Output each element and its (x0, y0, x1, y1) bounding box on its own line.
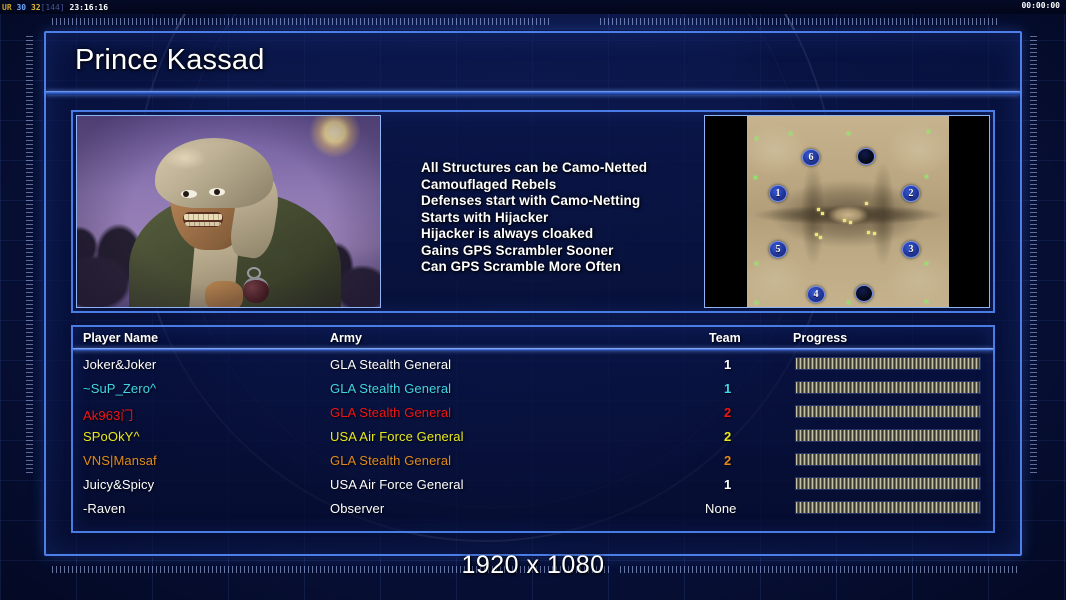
progress-bar-fill (796, 382, 980, 393)
ruler-right (1030, 36, 1037, 476)
ability-line: All Structures can be Camo-Netted (421, 160, 751, 177)
map-start-position[interactable]: 5 (769, 241, 787, 258)
map-start-position[interactable]: 3 (902, 241, 920, 258)
map-start-position[interactable]: 6 (802, 149, 820, 166)
progress-bar-fill (796, 454, 980, 465)
map-start-position[interactable] (857, 148, 875, 165)
player-name-cell: Joker&Joker (83, 357, 156, 372)
progress-bar (795, 429, 981, 442)
column-header-player-name: Player Name (83, 331, 158, 345)
ability-line: Hijacker is always cloaked (421, 226, 751, 243)
army-cell: GLA Stealth General (330, 357, 451, 372)
map-resource-dot (927, 130, 930, 133)
fps-bracket: [144] (41, 3, 65, 12)
column-header-army: Army (330, 331, 362, 345)
map-resource-dot (755, 301, 758, 304)
team-cell: 1 (724, 477, 731, 492)
map-start-position[interactable]: 2 (902, 185, 920, 202)
player-name-cell: SPoOkY^ (83, 429, 140, 444)
ability-line: Gains GPS Scrambler Sooner (421, 243, 751, 260)
ability-list: All Structures can be Camo-NettedCamoufl… (421, 160, 751, 276)
table-row[interactable]: Ak963门GLA Stealth General2 (73, 401, 993, 425)
fps-value-secondary: 32 (31, 3, 41, 12)
ruler-top-right (600, 18, 1000, 25)
player-name-cell: VNS|Mansaf (83, 453, 157, 468)
team-cell: 2 (724, 405, 731, 420)
map-start-position[interactable] (855, 285, 873, 302)
army-cell: Observer (330, 501, 384, 516)
title-divider (46, 91, 1020, 95)
system-clock: 23:16:16 (70, 3, 109, 12)
column-header-team: Team (709, 331, 741, 345)
progress-bar (795, 381, 981, 394)
map-resource-dot (755, 262, 758, 265)
resolution-label: 1920 x 1080 (0, 551, 1066, 580)
column-header-progress: Progress (793, 331, 847, 345)
player-name-cell: Juicy&Spicy (83, 477, 154, 492)
ability-line: Starts with Hijacker (421, 210, 751, 227)
page-title: Prince Kassad (75, 44, 265, 77)
progress-bar (795, 501, 981, 514)
portrait-vignette (77, 116, 380, 307)
map-resource-dot (847, 132, 850, 135)
ruler-left (26, 36, 33, 476)
ability-line: Can GPS Scramble More Often (421, 259, 751, 276)
hero-info-panel: Prince Kassad (44, 31, 1022, 556)
progress-bar-fill (796, 478, 980, 489)
map-preview[interactable]: 612534 (704, 115, 990, 308)
progress-bar-fill (796, 358, 980, 369)
army-cell: GLA Stealth General (330, 381, 451, 396)
fps-prefix: UR (2, 3, 12, 12)
table-row[interactable]: VNS|MansafGLA Stealth General2 (73, 449, 993, 473)
player-name-cell: Ak963门 (83, 405, 133, 424)
fps-value: 30 (16, 3, 26, 12)
team-cell: 1 (724, 357, 731, 372)
map-resource-dot (925, 175, 928, 178)
team-cell: 2 (724, 453, 731, 468)
army-cell: USA Air Force General (330, 477, 464, 492)
map-resource-dot (847, 301, 850, 304)
player-rows: Joker&JokerGLA Stealth General1~SuP_Zero… (73, 353, 993, 521)
player-list-header: Player Name Army Team Progress (73, 327, 993, 349)
map-start-position[interactable]: 1 (769, 185, 787, 202)
progress-bar-fill (796, 406, 980, 417)
army-cell: USA Air Force General (330, 429, 464, 444)
progress-bar (795, 453, 981, 466)
game-timer: 00:00:00 (1021, 1, 1060, 10)
general-portrait (76, 115, 381, 308)
map-resource-dot (754, 176, 757, 179)
map-resource-dot (789, 132, 792, 135)
ability-line: Defenses start with Camo-Netting (421, 193, 751, 210)
player-list-panel: Player Name Army Team Progress Joker&Jok… (71, 325, 995, 533)
table-row[interactable]: ~SuP_Zero^GLA Stealth General1 (73, 377, 993, 401)
top-status-bar: UR 30 32[144] 23:16:16 00:00:00 (0, 0, 1066, 14)
team-cell: None (705, 501, 736, 516)
header-divider (73, 348, 993, 351)
map-resource-dot (865, 202, 868, 205)
map-resource-dot (925, 300, 928, 303)
map-resource-dot (819, 236, 822, 239)
ruler-top-left (52, 18, 552, 25)
map-resource-dot (821, 212, 824, 215)
map-resource-dot (849, 221, 852, 224)
map-start-position[interactable]: 4 (807, 286, 825, 303)
game-lobby-screen: UR 30 32[144] 23:16:16 00:00:00 Prince K… (0, 0, 1066, 600)
map-resource-dot (925, 262, 928, 265)
map-resource-dot (843, 219, 846, 222)
map-resource-dot (755, 137, 758, 140)
table-row[interactable]: Juicy&SpicyUSA Air Force General1 (73, 473, 993, 497)
map-resource-dot (815, 233, 818, 236)
table-row[interactable]: -RavenObserverNone (73, 497, 993, 521)
army-cell: GLA Stealth General (330, 453, 451, 468)
fps-readout: UR 30 32[144] 23:16:16 (0, 3, 108, 12)
map-resource-dot (867, 231, 870, 234)
map-resource-dot (873, 232, 876, 235)
progress-bar-fill (796, 502, 980, 513)
ability-line: Camouflaged Rebels (421, 177, 751, 194)
player-name-cell: ~SuP_Zero^ (83, 381, 156, 396)
map-terrain: 612534 (747, 116, 949, 308)
progress-bar-fill (796, 430, 980, 441)
player-name-cell: -Raven (83, 501, 126, 516)
table-row[interactable]: Joker&JokerGLA Stealth General1 (73, 353, 993, 377)
team-cell: 2 (724, 429, 731, 444)
table-row[interactable]: SPoOkY^USA Air Force General2 (73, 425, 993, 449)
army-cell: GLA Stealth General (330, 405, 451, 420)
progress-bar (795, 477, 981, 490)
hero-detail-row: All Structures can be Camo-NettedCamoufl… (71, 110, 995, 313)
map-resource-dot (817, 208, 820, 211)
progress-bar (795, 357, 981, 370)
title-bar: Prince Kassad (46, 33, 1020, 95)
team-cell: 1 (724, 381, 731, 396)
progress-bar (795, 405, 981, 418)
